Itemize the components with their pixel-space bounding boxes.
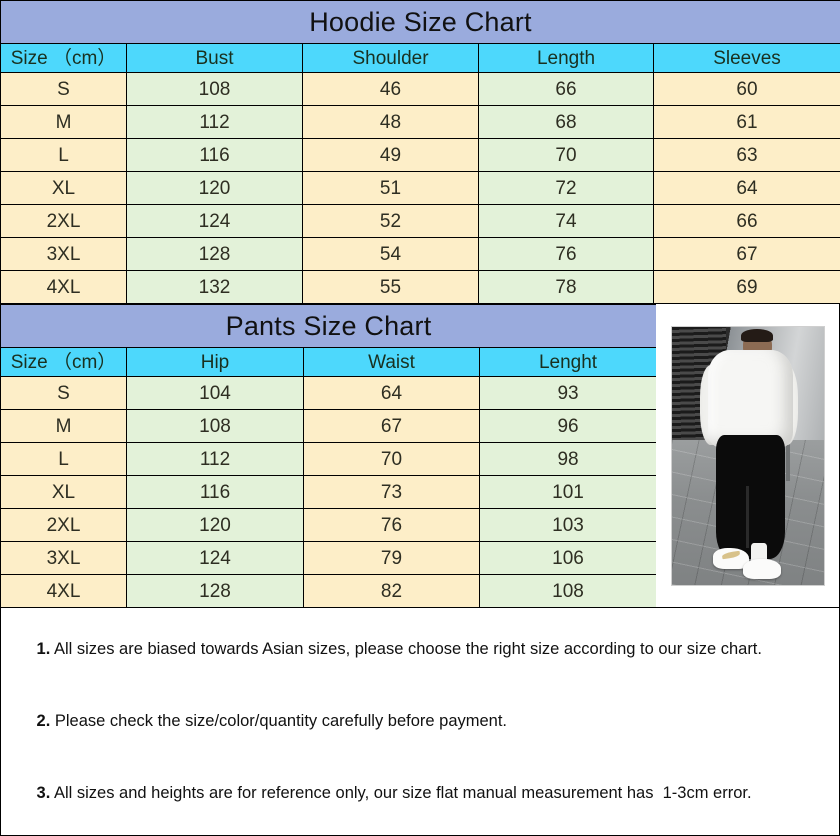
pants-cell-length: 93 <box>480 377 657 410</box>
pants-column-header-size: Size （cm） <box>1 348 127 377</box>
table-row: 4XL 132 55 78 69 <box>1 271 840 304</box>
note-number: 2. <box>37 712 51 730</box>
hoodie-size-table: Hoodie Size Chart Size （cm） Bust Shoulde… <box>0 0 840 304</box>
note-text: All sizes are biased towards Asian sizes… <box>50 640 762 658</box>
pants-cell-size: S <box>1 377 127 410</box>
table-row: XL 116 73 101 <box>1 476 657 509</box>
pants-cell-hip: 124 <box>127 542 304 575</box>
pants-size-table: Pants Size Chart Size （cm） Hip Waist Len… <box>0 304 657 608</box>
table-row: 3XL 124 79 106 <box>1 542 657 575</box>
list-item: 3. All sizes and heights are for referen… <box>9 757 831 829</box>
hoodie-column-header-size: Size （cm） <box>1 44 127 73</box>
hoodie-title-row: Hoodie Size Chart <box>1 1 840 44</box>
hoodie-size-chart-section: Hoodie Size Chart Size （cm） Bust Shoulde… <box>0 0 840 304</box>
pants-cell-size: L <box>1 443 127 476</box>
photo-model-hair <box>741 329 773 342</box>
pants-cell-size: XL <box>1 476 127 509</box>
pants-and-photo-section: Pants Size Chart Size （cm） Hip Waist Len… <box>0 304 840 608</box>
hoodie-cell-bust: 120 <box>127 172 303 205</box>
photo-black-joggers <box>716 435 786 559</box>
pants-cell-waist: 73 <box>304 476 480 509</box>
pants-cell-length: 108 <box>480 575 657 608</box>
pants-cell-hip: 128 <box>127 575 304 608</box>
pants-cell-size: 4XL <box>1 575 127 608</box>
hoodie-cell-sleeves: 67 <box>654 238 840 271</box>
hoodie-cell-length: 66 <box>479 73 654 106</box>
table-row: 4XL 128 82 108 <box>1 575 657 608</box>
hoodie-column-header-bust: Bust <box>127 44 303 73</box>
table-row: 2XL 120 76 103 <box>1 509 657 542</box>
pants-cell-size: 3XL <box>1 542 127 575</box>
note-number: 1. <box>37 640 51 658</box>
table-row: L 116 49 70 63 <box>1 139 840 172</box>
hoodie-cell-length: 74 <box>479 205 654 238</box>
pants-column-header-hip: Hip <box>127 348 304 377</box>
pants-cell-waist: 82 <box>304 575 480 608</box>
pants-cell-hip: 112 <box>127 443 304 476</box>
hoodie-cell-length: 70 <box>479 139 654 172</box>
hoodie-column-header-length: Length <box>479 44 654 73</box>
table-row: 3XL 128 54 76 67 <box>1 238 840 271</box>
hoodie-cell-sleeves: 69 <box>654 271 840 304</box>
pants-cell-waist: 79 <box>304 542 480 575</box>
pants-cell-length: 98 <box>480 443 657 476</box>
note-text: Please check the size/color/quantity car… <box>50 712 507 730</box>
hoodie-cell-shoulder: 52 <box>303 205 479 238</box>
table-row: L 112 70 98 <box>1 443 657 476</box>
hoodie-cell-bust: 108 <box>127 73 303 106</box>
hoodie-cell-sleeves: 60 <box>654 73 840 106</box>
table-row: 2XL 124 52 74 66 <box>1 205 840 238</box>
hoodie-cell-shoulder: 55 <box>303 271 479 304</box>
list-item: 1. All sizes are biased towards Asian si… <box>9 613 831 685</box>
pants-column-header-length: Lenght <box>480 348 657 377</box>
table-row: M 108 67 96 <box>1 410 657 443</box>
hoodie-cell-shoulder: 54 <box>303 238 479 271</box>
hoodie-cell-sleeves: 63 <box>654 139 840 172</box>
hoodie-cell-size: S <box>1 73 127 106</box>
table-row: XL 120 51 72 64 <box>1 172 840 205</box>
pants-cell-length: 101 <box>480 476 657 509</box>
pants-cell-hip: 108 <box>127 410 304 443</box>
hoodie-cell-size: L <box>1 139 127 172</box>
hoodie-cell-bust: 116 <box>127 139 303 172</box>
pants-cell-hip: 104 <box>127 377 304 410</box>
hoodie-cell-length: 78 <box>479 271 654 304</box>
pants-cell-length: 96 <box>480 410 657 443</box>
note-text: All sizes and heights are for reference … <box>50 784 751 802</box>
table-row: M 112 48 68 61 <box>1 106 840 139</box>
product-photo-cell <box>656 304 840 608</box>
pants-cell-waist: 70 <box>304 443 480 476</box>
hoodie-column-header-shoulder: Shoulder <box>303 44 479 73</box>
table-row: S 108 46 66 60 <box>1 73 840 106</box>
size-chart-sheet: Hoodie Size Chart Size （cm） Bust Shoulde… <box>0 0 840 753</box>
list-item: 2. Please check the size/color/quantity … <box>9 685 831 757</box>
photo-white-sweatshirt <box>708 350 793 448</box>
hoodie-cell-sleeves: 61 <box>654 106 840 139</box>
pants-size-chart-section: Pants Size Chart Size （cm） Hip Waist Len… <box>0 304 656 608</box>
note-number: 3. <box>37 784 51 802</box>
pants-cell-waist: 76 <box>304 509 480 542</box>
hoodie-cell-bust: 128 <box>127 238 303 271</box>
hoodie-cell-bust: 112 <box>127 106 303 139</box>
pants-cell-waist: 67 <box>304 410 480 443</box>
hoodie-cell-length: 76 <box>479 238 654 271</box>
pants-chart-title: Pants Size Chart <box>1 305 657 348</box>
hoodie-header-row: Size （cm） Bust Shoulder Length Sleeves <box>1 44 840 73</box>
pants-cell-length: 106 <box>480 542 657 575</box>
hoodie-cell-shoulder: 46 <box>303 73 479 106</box>
hoodie-cell-shoulder: 51 <box>303 172 479 205</box>
pants-cell-waist: 64 <box>304 377 480 410</box>
pants-cell-size: 2XL <box>1 509 127 542</box>
photo-leg-separation <box>746 486 749 548</box>
hoodie-cell-size: 4XL <box>1 271 127 304</box>
pants-cell-length: 103 <box>480 509 657 542</box>
table-row: S 104 64 93 <box>1 377 657 410</box>
hoodie-cell-length: 72 <box>479 172 654 205</box>
pants-header-row: Size （cm） Hip Waist Lenght <box>1 348 657 377</box>
hoodie-cell-size: 2XL <box>1 205 127 238</box>
hoodie-cell-size: 3XL <box>1 238 127 271</box>
pants-column-header-waist: Waist <box>304 348 480 377</box>
hoodie-cell-shoulder: 48 <box>303 106 479 139</box>
photo-sneaker-right <box>743 559 781 580</box>
hoodie-cell-bust: 132 <box>127 271 303 304</box>
hoodie-cell-size: M <box>1 106 127 139</box>
hoodie-cell-size: XL <box>1 172 127 205</box>
hoodie-cell-sleeves: 64 <box>654 172 840 205</box>
hoodie-chart-title: Hoodie Size Chart <box>1 1 840 44</box>
pants-cell-hip: 120 <box>127 509 304 542</box>
pants-cell-size: M <box>1 410 127 443</box>
hoodie-column-header-sleeves: Sleeves <box>654 44 840 73</box>
hoodie-cell-bust: 124 <box>127 205 303 238</box>
pants-cell-hip: 116 <box>127 476 304 509</box>
product-photo <box>671 326 825 586</box>
size-notes-section: 1. All sizes are biased towards Asian si… <box>0 608 840 836</box>
hoodie-cell-sleeves: 66 <box>654 205 840 238</box>
hoodie-cell-length: 68 <box>479 106 654 139</box>
hoodie-cell-shoulder: 49 <box>303 139 479 172</box>
pants-title-row: Pants Size Chart <box>1 305 657 348</box>
